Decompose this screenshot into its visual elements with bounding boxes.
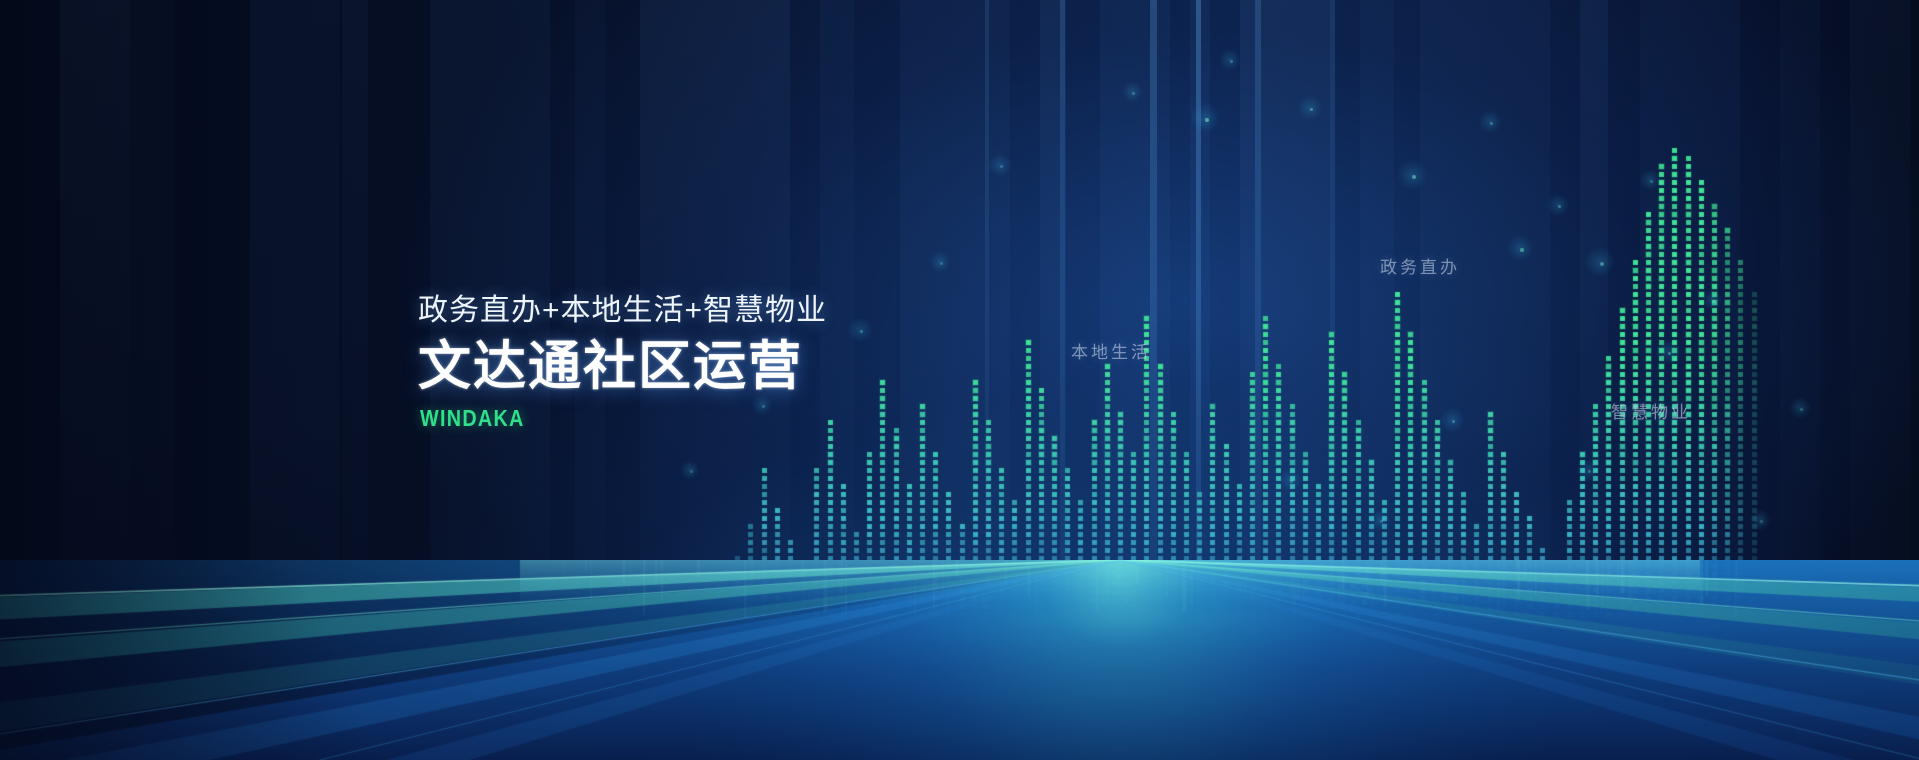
perspective-floor (0, 560, 1919, 760)
hero-text-block: 政务直办+本地生活+智慧物业 文达通社区运营 WINDAKA (418, 292, 827, 432)
floating-label-zhihuiwuye: 智慧物业 (1611, 398, 1691, 423)
hero-title: 文达通社区运营 (418, 338, 827, 396)
hero-banner: 政务直办+本地生活+智慧物业 文达通社区运营 WINDAKA 政务直办 本地生活… (0, 0, 1919, 760)
floating-label-bendishenghuo: 本地生活 (1071, 338, 1151, 363)
hero-subtitle: 政务直办+本地生活+智慧物业 (418, 292, 827, 330)
dotted-bar-skyline-chart (0, 0, 1919, 640)
brand-logotype: WINDAKA (420, 405, 770, 432)
floating-label-zhengwuzhiban: 政务直办 (1380, 253, 1460, 278)
